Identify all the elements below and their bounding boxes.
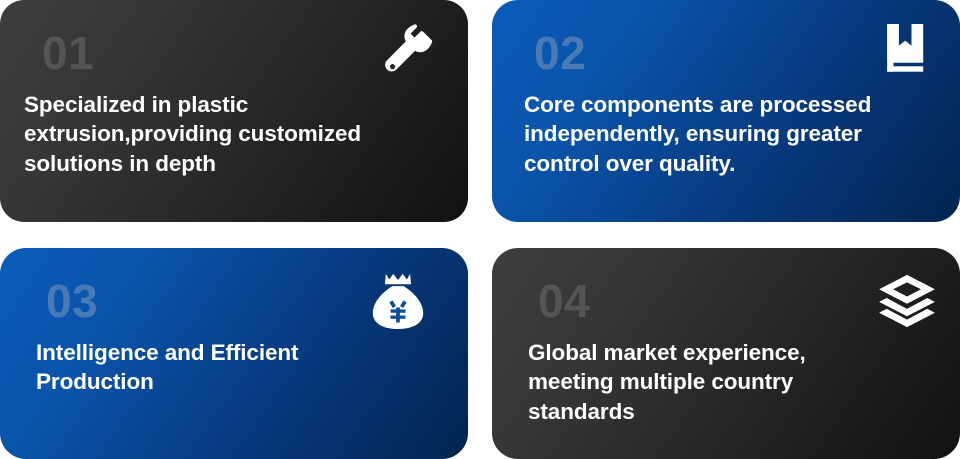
card-number: 02 — [534, 30, 938, 76]
money-bag-yen-icon — [370, 272, 426, 330]
card-description: Intelligence and Efficient Production — [36, 338, 446, 397]
card-description: Global market experience, meeting multip… — [528, 338, 938, 426]
wrench-icon — [382, 24, 436, 78]
feature-card-04[interactable]: 04 Global market experience, meeting mul… — [492, 248, 960, 459]
card-description: Specialized in plastic extrusion,providi… — [24, 90, 446, 178]
layers-stack-icon — [878, 274, 936, 328]
feature-card-grid: 01 Specialized in plastic extrusion,prov… — [0, 0, 960, 459]
feature-card-03[interactable]: 03 Intelligence and Efficient Production — [0, 248, 468, 459]
feature-card-02[interactable]: 02 Core components are processed indepen… — [492, 0, 960, 222]
book-bookmark-icon — [882, 24, 932, 78]
card-description: Core components are processed independen… — [524, 90, 938, 178]
feature-card-01[interactable]: 01 Specialized in plastic extrusion,prov… — [0, 0, 468, 222]
